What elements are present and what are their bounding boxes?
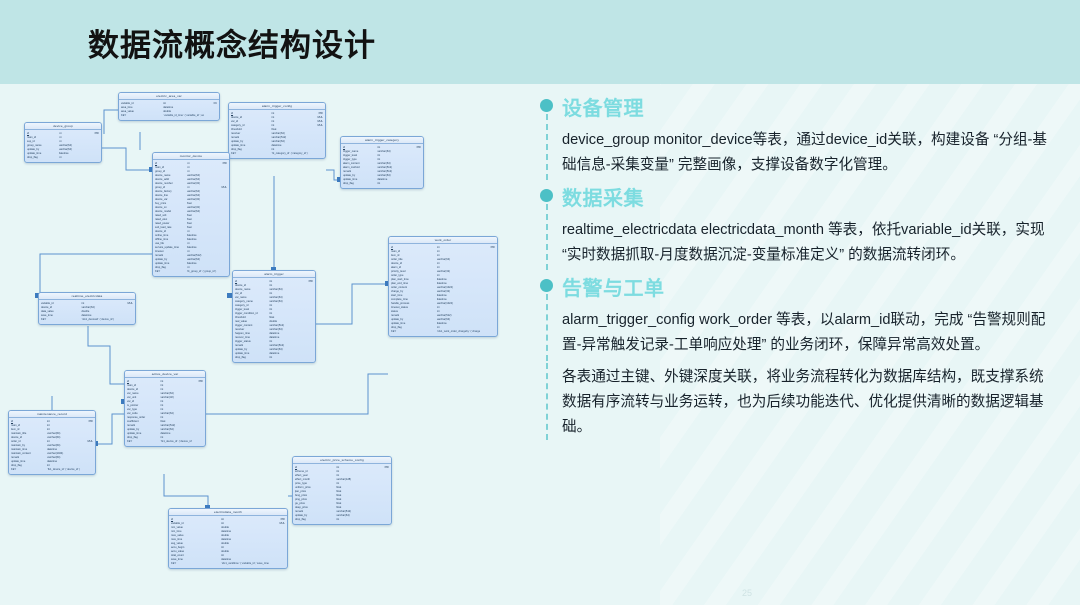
- er-column-type: `fk1_device_id` (`device_id`): [160, 440, 192, 444]
- er-table-row: KEY`variable_id_time` (`variable_id`,`ar…: [121, 114, 217, 118]
- er-column-key: [480, 330, 495, 334]
- er-table-alarm_trigger: alarm_triggeridintPRIdevice_idintdevice_…: [232, 270, 316, 363]
- er-table-caption: alarm_trigger_config: [229, 103, 325, 110]
- er-table-rows: variable_idintMULdevice_idvarchar(64)dat…: [39, 300, 135, 324]
- er-table-caption: device_group: [25, 123, 101, 130]
- slide-header: 数据流概念结构设计: [0, 0, 1080, 84]
- er-column-type: `fk1_device_id` (`device_id`): [47, 468, 81, 472]
- er-column-key: [217, 270, 227, 274]
- er-table-alarm_trigger_category: alarm_trigger_categoryidintPRItrigger_na…: [340, 136, 424, 189]
- er-column-key: [192, 440, 203, 444]
- er-table-caption: active_device_var: [125, 371, 205, 378]
- er-table-row: KEY`fk_category_id` (`category_id`): [231, 152, 323, 156]
- er-table-electric_area_var: electric_area_varvariable_idintFKarea_ti…: [118, 92, 220, 121]
- er-table-row: drop_flagint: [27, 156, 99, 160]
- bullet-dot-icon: [540, 279, 553, 292]
- er-column-name: drop_flag: [343, 182, 377, 186]
- section-heading: 数据采集: [562, 182, 1056, 211]
- er-table-caption: monitor_device: [153, 153, 229, 160]
- er-table-rows: idintPRImain_idintgroup_idintdevice_name…: [153, 160, 229, 276]
- timeline-dashed-line: [546, 204, 548, 270]
- timeline-dashed-line: [546, 363, 548, 440]
- er-column-key: [120, 318, 133, 322]
- bullet-dot-icon: [540, 189, 553, 202]
- er-column-name: KEY: [11, 468, 47, 472]
- er-table-rows: idintPRIscheme_idinteffect_yearinteffect…: [293, 464, 391, 524]
- er-table-caption: electric_price_scheme_config: [293, 457, 391, 464]
- er-table-row: KEY`idx1_varidtime` (`variable_id`,`save…: [171, 562, 285, 566]
- er-table-caption: realtime_electricdata: [39, 293, 135, 300]
- er-column-name: KEY: [171, 562, 221, 566]
- er-table-caption: electricdata_month: [169, 509, 287, 516]
- er-column-key: [269, 562, 285, 566]
- er-table-row: drop_flagint: [343, 182, 421, 186]
- explanation-panel: 设备管理 device_group monitor_device等表，通过dev…: [536, 92, 1056, 444]
- er-column-name: drop_flag: [295, 518, 336, 522]
- er-table-rows: idintPRIvariable_idintMULmin_valuedouble…: [169, 516, 287, 568]
- er-column-type: `fk_group_id` (`group_id`): [187, 270, 217, 274]
- section-device-management: 设备管理 device_group monitor_device等表，通过dev…: [536, 92, 1056, 178]
- er-table-row: drop_flagint: [235, 356, 313, 360]
- er-column-key: [82, 468, 93, 472]
- er-column-type: `idx1_varidtime` (`variable_id`,`save_ti…: [221, 562, 269, 566]
- section-alarm-and-workorder: 告警与工单 alarm_trigger_config work_order 等表…: [536, 272, 1056, 358]
- er-table-caption: work_order: [389, 237, 497, 244]
- er-column-type: `variable_id_time` (`variable_id`,`area_…: [163, 114, 203, 118]
- er-table-rows: idintPRIdevice_idintMULvar_idintMULcateg…: [229, 110, 325, 158]
- timeline-dashed-line: [546, 294, 548, 360]
- section-body: device_group monitor_device等表，通过device_i…: [562, 128, 1056, 178]
- er-column-name: KEY: [391, 330, 437, 334]
- er-table-row: KEY`idx1_work_order_chargeby` (`charge_b…: [391, 330, 495, 334]
- section-body: alarm_trigger_config work_order 等表，以alar…: [562, 308, 1056, 358]
- section-closing-summary: 各表通过主键、外键深度关联，将业务流程转化为数据库结构，既支撑系统数据有序流转与…: [536, 363, 1056, 440]
- er-table-alarm_trigger_config: alarm_trigger_configidintPRIdevice_idint…: [228, 102, 326, 159]
- er-table-device_group: device_groupidintPRImain_idintsup_idintg…: [24, 122, 102, 163]
- er-table-work_order: work_orderidintPRImain_idintitem_idintor…: [388, 236, 498, 337]
- er-table-caption: alarm_trigger: [233, 271, 315, 278]
- er-column-name: KEY: [155, 270, 187, 274]
- page-title: 数据流概念结构设计: [88, 20, 376, 65]
- er-table-row: KEY`fk1_device_id` (`device_id`): [11, 468, 93, 472]
- er-table-row: KEY`idx1_deviceid` (`device_id`): [41, 318, 133, 322]
- er-table-row: KEY`fk_group_id` (`group_id`): [155, 270, 227, 274]
- er-column-key: [410, 182, 421, 186]
- er-table-active_device_var: active_device_varidintPRImain_idintdevic…: [124, 370, 206, 447]
- er-column-name: KEY: [127, 440, 160, 444]
- er-column-type: `idx1_work_order_chargeby` (`charge_by`): [437, 330, 481, 334]
- er-column-name: drop_flag: [27, 156, 59, 160]
- er-column-name: KEY: [121, 114, 163, 118]
- er-column-key: [376, 518, 389, 522]
- er-table-row: KEY`fk1_device_id` (`device_id`): [127, 440, 203, 444]
- er-column-type: int: [377, 182, 410, 186]
- er-table-rows: idintPRImain_idintdevice_idintvar_nameva…: [125, 378, 205, 446]
- er-table-rows: idintPRIdevice_idintdevice_namevarchar(6…: [233, 278, 315, 362]
- er-table-monitor_device: monitor_deviceidintPRImain_idintgroup_id…: [152, 152, 230, 277]
- er-column-key: [310, 152, 323, 156]
- er-table-electricdata_month: electricdata_monthidintPRIvariable_idint…: [168, 508, 288, 569]
- er-column-type: int: [336, 518, 375, 522]
- er-table-caption: alarm_trigger_category: [341, 137, 423, 144]
- er-column-type: int: [269, 356, 302, 360]
- er-column-name: KEY: [41, 318, 81, 322]
- er-table-rows: idintPRImain_idintitem_idintorder_titlev…: [389, 244, 497, 336]
- er-table-caption: maintenance_record: [9, 411, 95, 418]
- er-table-caption: electric_area_var: [119, 93, 219, 100]
- er-table-rows: idintPRImain_idintitem_idintmaintain_tit…: [9, 418, 95, 474]
- closing-text: 各表通过主键、外键深度关联，将业务流程转化为数据库结构，既支撑系统数据有序流转与…: [562, 365, 1056, 440]
- bullet-dot-icon: [540, 99, 553, 112]
- er-table-rows: variable_idintFKarea_timedatetimearea_va…: [119, 100, 219, 120]
- er-column-type: `fk_category_id` (`category_id`): [271, 152, 310, 156]
- er-table-electric_price_scheme_config: electric_price_scheme_configidintPRIsche…: [292, 456, 392, 525]
- er-column-key: [204, 114, 217, 118]
- section-heading: 设备管理: [562, 92, 1056, 121]
- er-table-rows: idintPRItrigger_namevarchar(64)trigger_l…: [341, 144, 423, 188]
- er-column-key: [89, 156, 99, 160]
- section-heading: 告警与工单: [562, 272, 1056, 301]
- er-column-name: drop_flag: [235, 356, 269, 360]
- section-body: realtime_electricdata electricdata_month…: [562, 218, 1056, 268]
- section-data-collection: 数据采集 realtime_electricdata electricdata_…: [536, 182, 1056, 268]
- slide-root: 数据流概念结构设计: [0, 0, 1080, 605]
- er-column-key: [302, 356, 313, 360]
- er-column-type: int: [59, 156, 89, 160]
- er-table-row: drop_flagint: [295, 518, 389, 522]
- timeline-dashed-line: [546, 114, 548, 180]
- er-table-rows: idintPRImain_idintsup_idintgroup_namevar…: [25, 130, 101, 162]
- er-table-realtime_electricdata: realtime_electricdatavariable_idintMULde…: [38, 292, 136, 325]
- er-table-maintenance_record: maintenance_recordidintPRImain_idintitem…: [8, 410, 96, 475]
- er-column-name: KEY: [231, 152, 271, 156]
- page-number: 25: [742, 588, 752, 598]
- er-diagram: electric_area_varvariable_idintFKarea_ti…: [0, 84, 530, 605]
- er-column-type: `idx1_deviceid` (`device_id`): [81, 318, 120, 322]
